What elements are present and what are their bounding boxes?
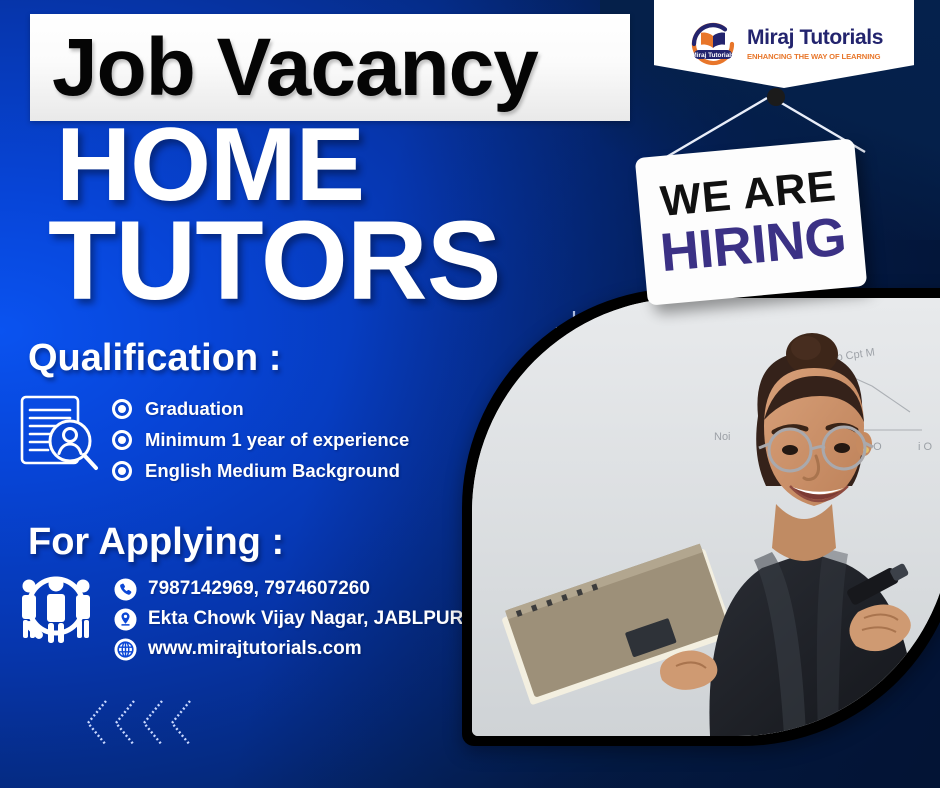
address-text: Ekta Chowk Vijay Nagar, JABLPUR	[148, 608, 463, 630]
qualification-item-label: English Medium Background	[145, 460, 400, 482]
logo-badge-text: Miraj Tutorials	[691, 52, 735, 59]
qualification-section: Graduation Minimum 1 year of experience …	[14, 388, 409, 487]
we-are-hiring-sign: WE ARE HIRING	[635, 138, 868, 305]
globe-icon	[114, 638, 137, 661]
tutor-photo-frame: Mo Cpt M Noi p O i O	[462, 288, 940, 746]
qualification-heading: Qualification :	[28, 337, 281, 380]
contact-list: 7987142969, 7974607260 Ekta Chowk Vijay …	[114, 568, 463, 664]
svg-text:Noi: Noi	[714, 431, 731, 443]
website-url: www.mirajtutorials.com	[148, 638, 362, 660]
logo-tagline: ENHANCING THE WAY OF LEARNING	[747, 52, 883, 61]
open-book-circle-icon: Miraj Tutorials	[685, 16, 741, 72]
bullet-icon	[112, 430, 132, 450]
job-vacancy-title: Job Vacancy	[30, 27, 538, 109]
bullet-icon	[112, 461, 132, 481]
job-vacancy-banner: Job Vacancy	[30, 14, 630, 121]
qualification-list: Graduation Minimum 1 year of experience …	[112, 388, 409, 487]
page-title: HOME TUTORS	[48, 120, 608, 310]
qualification-item-label: Graduation	[145, 398, 244, 420]
list-item: Graduation	[112, 394, 409, 424]
contact-address[interactable]: Ekta Chowk Vijay Nagar, JABLPUR	[114, 604, 463, 634]
contact-phone[interactable]: 7987142969, 7974607260	[114, 574, 463, 604]
phone-number: 7987142969, 7974607260	[148, 578, 370, 600]
job-vacancy-poster: Job Vacancy HOME TUTORS Qualification :	[0, 0, 940, 788]
double-chevron-left-icon	[78, 693, 198, 753]
bullet-icon	[112, 399, 132, 419]
apply-section: 7987142969, 7974607260 Ekta Chowk Vijay …	[14, 568, 463, 664]
qualification-item-label: Minimum 1 year of experience	[145, 429, 409, 451]
resume-search-icon	[14, 390, 102, 476]
list-item: English Medium Background	[112, 456, 409, 486]
phone-icon	[114, 578, 137, 601]
headline-line-2: TUTORS	[48, 212, 608, 311]
contact-website[interactable]: www.mirajtutorials.com	[114, 634, 463, 664]
tutor-photo: Mo Cpt M Noi p O i O	[472, 298, 940, 736]
hook-dot-icon	[767, 88, 785, 106]
list-item: Minimum 1 year of experience	[112, 425, 409, 455]
logo-banner: Miraj Tutorials Miraj Tutorials ENHANCIN…	[654, 0, 914, 88]
svg-text:i O: i O	[918, 441, 933, 453]
apply-heading: For Applying :	[28, 521, 284, 564]
people-search-icon	[14, 568, 106, 660]
logo-name: Miraj Tutorials	[747, 27, 883, 48]
location-pin-icon	[114, 608, 137, 631]
